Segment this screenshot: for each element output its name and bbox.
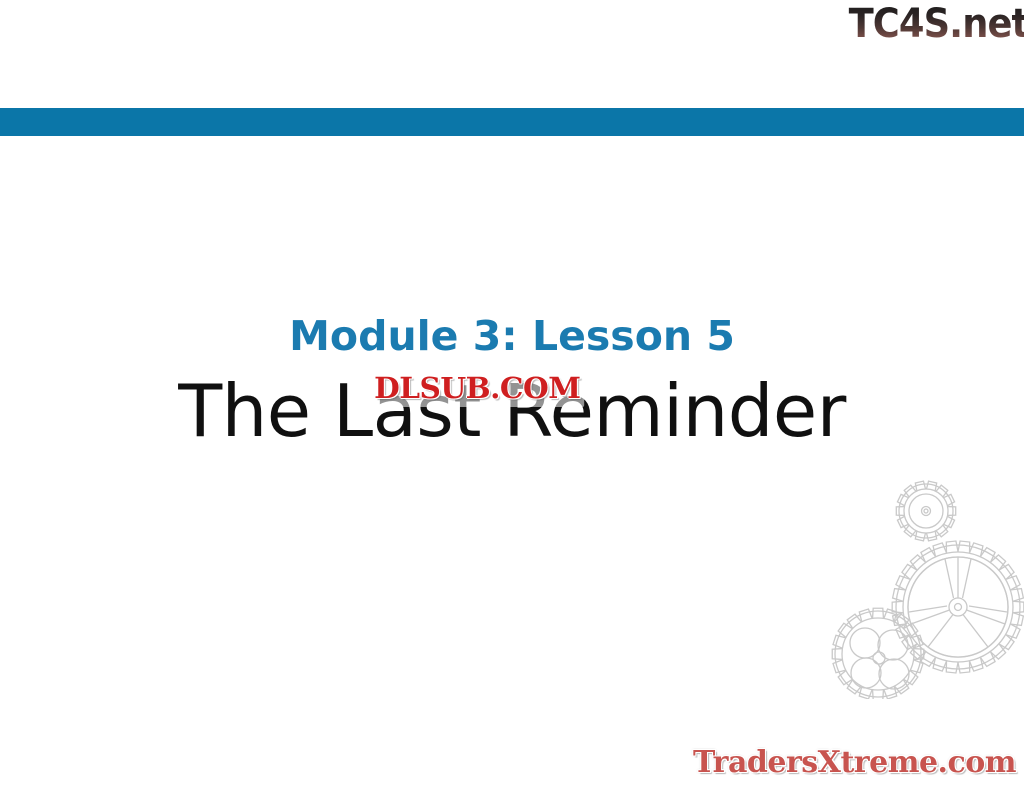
blue-divider-bar (0, 108, 1024, 136)
presentation-slide: TC4S.net TC4S.net Module 3: Lesson 5 The… (0, 0, 1024, 791)
gears-decoration (830, 469, 1024, 699)
brand-logo-tc4s: TC4S.net (848, 2, 1024, 46)
module-lesson-label: Module 3: Lesson 5 (0, 310, 1024, 362)
gear-bottom-left (832, 608, 924, 699)
dlsub-watermark: DLSUB.COM (370, 371, 585, 407)
gears-svg (830, 469, 1024, 699)
footer-logo-tradersxtreme: TradersXtreme.com (693, 745, 1016, 781)
gear-small-top (896, 481, 955, 541)
gear-large (892, 541, 1024, 673)
